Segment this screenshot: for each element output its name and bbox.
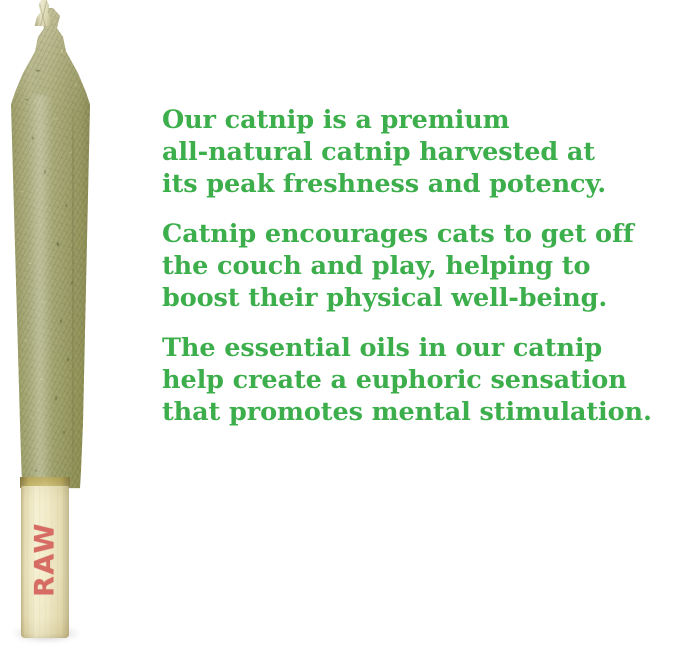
cone-paper-seam xyxy=(72,100,74,490)
copy-paragraph-premium-catnip: Our catnip is a premium all-natural catn… xyxy=(162,104,678,200)
raw-brand-wordmark: RAW xyxy=(32,522,59,597)
cone-paper-body xyxy=(0,8,100,490)
copy-paragraph-encourages-play: Catnip encourages cats to get off the co… xyxy=(162,218,678,314)
copy-paragraph-essential-oils: The essential oils in our catnip help cr… xyxy=(162,332,678,428)
product-marketing-image: RAW Our catnip is a premium all-natural … xyxy=(0,0,679,652)
cone-highlight xyxy=(30,95,52,481)
marketing-copy-block: Our catnip is a premium all-natural catn… xyxy=(162,104,678,428)
cone-filter-tip: RAW xyxy=(21,486,69,638)
catnip-cone-product-image: RAW xyxy=(0,0,110,652)
